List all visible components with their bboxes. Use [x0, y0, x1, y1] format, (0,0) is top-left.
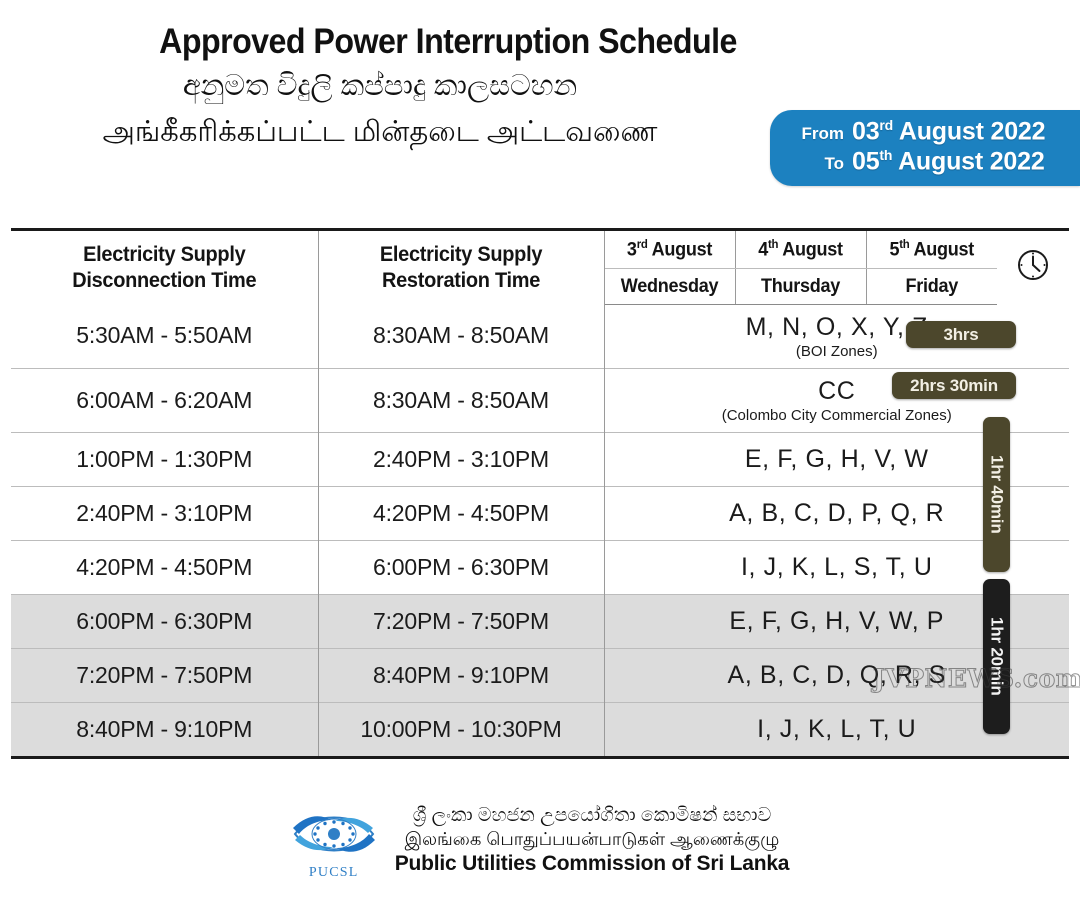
table-row: 6:00PM - 6:30PM 7:20PM - 7:50PM E, F, G,…	[11, 594, 1069, 648]
cell-disconnect-time: 8:40PM - 9:10PM	[11, 702, 318, 757]
organisation-name: ශ්‍රී ලංකා මහජන උපයෝගිතා කොමිෂන් සභාව இல…	[395, 804, 790, 878]
zone-note: (BOI Zones)	[609, 343, 1066, 360]
cell-zones: E, F, G, H, V, W	[604, 432, 1069, 486]
table-head: Electricity Supply Disconnection Time El…	[11, 230, 1069, 305]
zone-note: (Colombo City Commercial Zones)	[609, 407, 1066, 424]
schedule-table: Electricity Supply Disconnection Time El…	[11, 228, 1069, 759]
cell-disconnect-time: 2:40PM - 3:10PM	[11, 486, 318, 540]
table-row: 8:40PM - 9:10PM 10:00PM - 10:30PM I, J, …	[11, 702, 1069, 757]
date-to-line: To 05th August 2022	[792, 147, 1080, 177]
cell-zones: E, F, G, H, V, W, P	[604, 594, 1069, 648]
org-name-english: Public Utilities Commission of Sri Lanka	[395, 851, 790, 878]
th-weekday-1: Thursday	[738, 268, 862, 304]
table-body: 5:30AM - 5:50AM 8:30AM - 8:50AM M, N, O,…	[11, 304, 1069, 757]
cell-restore-time: 6:00PM - 6:30PM	[318, 540, 604, 594]
cell-restore-time: 8:30AM - 8:50AM	[318, 304, 604, 368]
pucsl-logo: PUCSL	[291, 802, 377, 880]
th-disconnection-time: Electricity Supply Disconnection Time	[19, 230, 311, 305]
th-weekday-0: Wednesday	[607, 268, 731, 304]
header-row-dates: Electricity Supply Disconnection Time El…	[11, 230, 1069, 269]
table-row: 2:40PM - 3:10PM 4:20PM - 4:50PM A, B, C,…	[11, 486, 1069, 540]
th-date-2: 5th August	[869, 230, 993, 269]
zone-list: E, F, G, H, V, W	[609, 445, 1066, 474]
page-footer: PUCSL ශ්‍රී ලංකා මහජන උපයෝගිතා කොමිෂන් ස…	[0, 802, 1080, 880]
zone-list: I, J, K, L, T, U	[609, 715, 1066, 744]
th-date-0: 3rd August	[607, 230, 731, 269]
zone-list: I, J, K, L, S, T, U	[609, 553, 1066, 582]
cell-restore-time: 8:40PM - 9:10PM	[318, 648, 604, 702]
pucsl-logo-text: PUCSL	[291, 865, 377, 881]
cell-zones: I, J, K, L, S, T, U	[604, 540, 1069, 594]
table-row: 1:00PM - 1:30PM 2:40PM - 3:10PM E, F, G,…	[11, 432, 1069, 486]
schedule-table-wrapper: Electricity Supply Disconnection Time El…	[11, 228, 1069, 759]
cell-restore-time: 7:20PM - 7:50PM	[318, 594, 604, 648]
cell-zones: CC (Colombo City Commercial Zones)	[604, 368, 1069, 432]
cell-zones: A, B, C, D, Q, R, S	[604, 648, 1069, 702]
table-row: 4:20PM - 4:50PM 6:00PM - 6:30PM I, J, K,…	[11, 540, 1069, 594]
cell-restore-time: 8:30AM - 8:50AM	[318, 368, 604, 432]
th-date-1: 4th August	[738, 230, 862, 269]
org-name-sinhala: ශ්‍රී ලංකා මහජන උපයෝගිතා කොමිෂන් සභාව	[395, 804, 790, 828]
cell-restore-time: 4:20PM - 4:50PM	[318, 486, 604, 540]
zone-list: A, B, C, D, P, Q, R	[609, 499, 1066, 528]
from-date: 03rd August 2022	[852, 117, 1045, 147]
cell-restore-time: 2:40PM - 3:10PM	[318, 432, 604, 486]
cell-disconnect-time: 6:00PM - 6:30PM	[11, 594, 318, 648]
cell-disconnect-time: 7:20PM - 7:50PM	[11, 648, 318, 702]
cell-zones: I, J, K, L, T, U	[604, 702, 1069, 757]
table-row: 6:00AM - 6:20AM 8:30AM - 8:50AM CC (Colo…	[11, 368, 1069, 432]
zone-list: A, B, C, D, Q, R, S	[609, 661, 1066, 690]
date-range-banner: From 03rd August 2022 To 05th August 202…	[770, 110, 1080, 186]
clock-icon	[1016, 269, 1050, 286]
cell-zones: A, B, C, D, P, Q, R	[604, 486, 1069, 540]
from-label: From	[792, 124, 844, 144]
cell-disconnect-time: 1:00PM - 1:30PM	[11, 432, 318, 486]
page-title-sinhala: අනුමත විදුලි කප්පාදු කාලසටහන	[0, 70, 1080, 103]
table-row: 5:30AM - 5:50AM 8:30AM - 8:50AM M, N, O,…	[11, 304, 1069, 368]
zone-list: M, N, O, X, Y, Z	[609, 313, 1066, 342]
page-header: Approved Power Interruption Schedule අනු…	[0, 0, 1080, 210]
zone-list: CC	[609, 377, 1066, 406]
date-from-line: From 03rd August 2022	[792, 117, 1080, 147]
cell-restore-time: 10:00PM - 10:30PM	[318, 702, 604, 757]
pucsl-eye-icon	[291, 802, 377, 866]
cell-disconnect-time: 5:30AM - 5:50AM	[11, 304, 318, 368]
th-weekday-2: Friday	[869, 268, 993, 304]
to-label: To	[792, 154, 844, 174]
zone-list: E, F, G, H, V, W, P	[609, 607, 1066, 636]
cell-disconnect-time: 6:00AM - 6:20AM	[11, 368, 318, 432]
duration-column-header	[997, 230, 1069, 305]
table-row: 7:20PM - 7:50PM 8:40PM - 9:10PM A, B, C,…	[11, 648, 1069, 702]
page-title: Approved Power Interruption Schedule	[43, 22, 1037, 62]
th-restoration-time: Electricity Supply Restoration Time	[325, 230, 597, 305]
cell-disconnect-time: 4:20PM - 4:50PM	[11, 540, 318, 594]
cell-zones: M, N, O, X, Y, Z (BOI Zones)	[604, 304, 1069, 368]
org-name-tamil: இலங்கை பொதுப்பயன்பாடுகள் ஆணைக்குழு	[395, 828, 790, 851]
to-date: 05th August 2022	[852, 147, 1045, 177]
